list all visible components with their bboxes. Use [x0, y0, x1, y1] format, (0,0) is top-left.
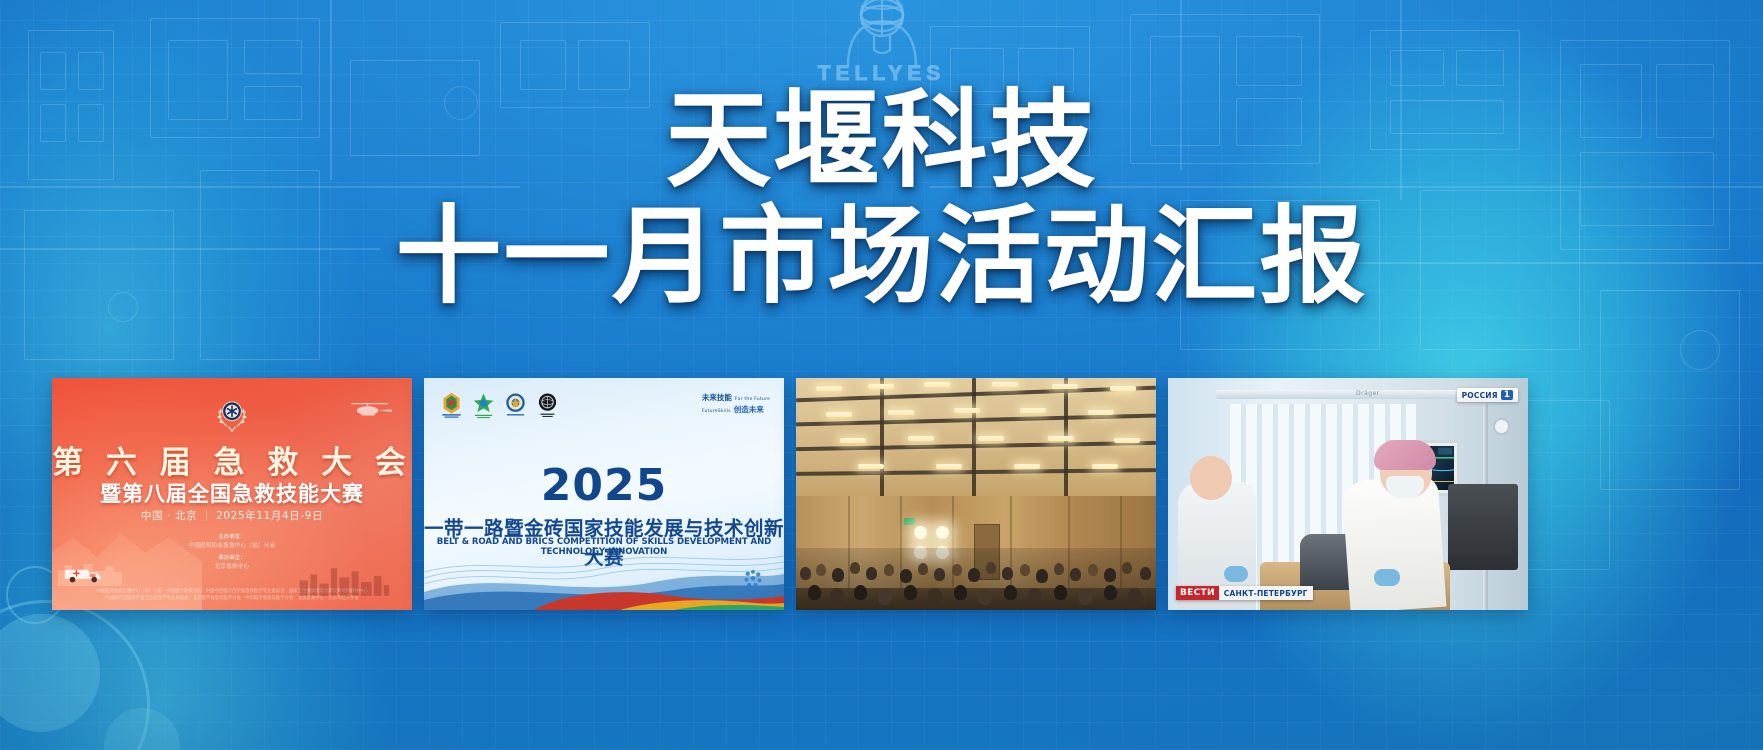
ceiling-lamp-icon	[840, 438, 866, 443]
tellyes-wordmark: TELLYES	[818, 62, 946, 86]
ticker-brand: ВЕСТИ	[1176, 586, 1219, 600]
ceiling-lamp-icon	[816, 386, 842, 391]
decorative-dot-small	[104, 708, 180, 750]
ceiling-lamp-icon	[868, 384, 894, 389]
card-belt-road-brics-poster[interactable]: 未来技能 For the Future FutureSkills 创造未来 20…	[424, 378, 784, 610]
decorative-ring-large	[0, 600, 150, 750]
ceiling-lamp-icon	[1114, 438, 1140, 443]
ceiling-lamp-icon	[954, 408, 980, 413]
broadcaster-name: РОССИЯ	[1462, 391, 1498, 400]
tellyes-globe-figure-icon	[836, 0, 928, 68]
right-glow-decoration	[1103, 0, 1763, 750]
card2-year: 2025	[424, 460, 784, 511]
headline-line-2: 十一月市场活动汇报	[0, 200, 1763, 314]
ceiling-lamp-icon	[1092, 464, 1118, 469]
left-glow-decoration	[0, 0, 420, 750]
decorative-dot-large	[0, 614, 100, 732]
tellyes-logo-watermark: TELLYES	[792, 0, 972, 88]
brics-skills-emblem-icon	[440, 391, 463, 419]
tellyes-dark-emblem-icon	[536, 391, 559, 419]
blueprint-schematic-overlay	[0, 0, 1763, 750]
card1-org-label-2: 承办单位：	[219, 555, 246, 561]
card1-date: 中国 · 北京 ｜ 2025年11月4日-9日	[52, 508, 412, 523]
card1-subtitle: 暨第八届全国急救技能大赛	[52, 478, 412, 508]
tellyes-dots-logo-icon	[740, 566, 766, 592]
ticker-city: САНКТ-ПЕТЕРБУРГ	[1219, 586, 1313, 600]
highlight-cards-row: 第 六 届 急 救 大 会 暨第八届全国急救技能大赛 中国 · 北京 ｜ 202…	[0, 378, 1763, 618]
ceiling-lamp-icon	[1088, 410, 1114, 415]
card-conference-hall-photo[interactable]	[796, 378, 1156, 610]
face-mask-icon	[1386, 476, 1424, 498]
page-title: 天堰科技 十一月市场活动汇报	[0, 84, 1763, 315]
green-star-emblem-icon	[472, 391, 495, 419]
card2-tagline-en-2: FutureSkills	[702, 409, 731, 414]
ceiling-lamp-icon	[1020, 408, 1046, 413]
glove-icon	[1224, 566, 1248, 582]
marketing-banner: TELLYES 天堰科技 十一月市场活动汇报	[0, 0, 1763, 750]
equipment-brand-label: Dräger	[1356, 390, 1380, 397]
emergency-star-of-life-laurel-icon	[212, 395, 252, 435]
headline-line-1: 天堰科技	[0, 84, 1763, 198]
wave-lines-decoration	[424, 548, 784, 592]
glove-icon	[1374, 569, 1400, 586]
ceiling-lamp-icon	[858, 464, 884, 469]
card2-tagline-cn-2: 创造未来	[734, 404, 764, 415]
assistant-head	[1190, 456, 1232, 500]
card2-organizer-logos	[440, 391, 559, 419]
vignette-overlay	[0, 0, 1763, 750]
ceiling-lamp-icon	[992, 382, 1018, 387]
ceiling-lamp-icon	[1110, 386, 1136, 391]
ceiling-lamp-icon	[826, 412, 852, 417]
card2-tagline: 未来技能 For the Future FutureSkills 创造未来	[702, 392, 770, 415]
blue-circular-emblem-icon	[504, 391, 527, 419]
card1-org-label-1: 主办单位：	[219, 534, 246, 540]
ceiling-lamp-icon	[924, 382, 950, 387]
card2-tagline-cn-1: 未来技能	[702, 392, 732, 403]
ambulance-icon	[62, 564, 104, 584]
city-skyline-icon	[298, 562, 390, 596]
pressure-gauge-icon	[1493, 418, 1510, 435]
ceiling-structure	[796, 378, 1156, 500]
helicopter-icon	[350, 398, 394, 418]
ceiling-lamp-icon	[1014, 464, 1040, 469]
ceiling-lamp-icon	[1052, 384, 1078, 389]
card-emergency-congress-poster[interactable]: 第 六 届 急 救 大 会 暨第八届全国急救技能大赛 中国 · 北京 ｜ 202…	[52, 378, 412, 610]
card1-footer-line-2: 中国研究型医院学会卫生应急学专业委员会 · 北京医学会急诊医学分会 · 中华医学…	[52, 595, 412, 602]
blueprint-grid-texture	[0, 0, 1763, 750]
card1-org-value-1: 中国医院协会急救中心（站）分会	[52, 542, 412, 551]
ceiling-lamp-icon	[978, 436, 1004, 441]
broadcaster-channel: 1	[1501, 390, 1513, 400]
audience-crowd-icon	[796, 548, 1156, 610]
card2-tagline-en-1: For the Future	[735, 397, 770, 402]
ceiling-lamp-icon	[888, 410, 914, 415]
card-hospital-news-photo[interactable]: Dräger	[1168, 378, 1528, 610]
card1-title: 第 六 届 急 救 大 会	[52, 437, 412, 482]
news-ticker-badge: ВЕСТИ САНКТ-ПЕТЕРБУРГ	[1176, 586, 1313, 600]
ceiling-lamp-icon	[1048, 436, 1074, 441]
ventilator-icon	[1448, 484, 1518, 570]
ceiling-lamp-icon	[908, 436, 934, 441]
ceiling-lamp-icon	[936, 464, 962, 469]
broadcaster-badge: РОССИЯ 1	[1457, 388, 1518, 402]
exit-sign-icon	[904, 518, 915, 525]
surgical-cap-icon	[1374, 440, 1436, 470]
